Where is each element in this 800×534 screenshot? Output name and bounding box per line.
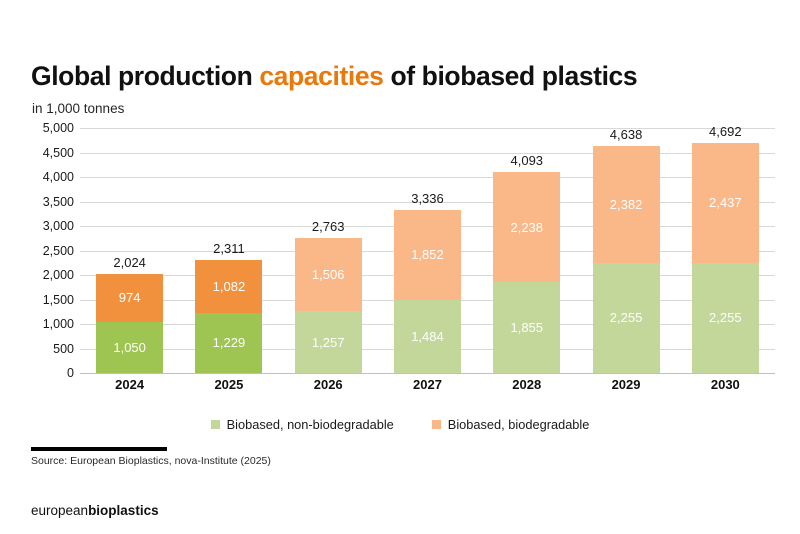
bar-segment-non-biodegradable[interactable]: 2,255 xyxy=(692,263,759,373)
bar-group-2026[interactable]: 2,7631,5061,257 xyxy=(295,128,362,373)
bar-segment-biodegradable[interactable]: 974 xyxy=(96,274,163,322)
y-axis-tick-label: 2,500 xyxy=(22,244,74,258)
bar-group-container: 2,0249741,0502,3111,0821,2292,7631,5061,… xyxy=(80,128,775,373)
title-part-1: Global production xyxy=(31,61,259,91)
y-axis-tick-label: 2,000 xyxy=(22,268,74,282)
bar-segment-non-biodegradable[interactable]: 1,257 xyxy=(295,311,362,373)
brand-logo-light: european xyxy=(31,503,88,518)
bar-segment-biodegradable[interactable]: 2,437 xyxy=(692,143,759,262)
y-axis-tick-label: 5,000 xyxy=(22,121,74,135)
x-axis-tick-2029: 2029 xyxy=(593,377,660,392)
bar-segment-value-label: 1,082 xyxy=(213,280,246,293)
bar-group-2024[interactable]: 2,0249741,050 xyxy=(96,128,163,373)
bar-segment-non-biodegradable[interactable]: 1,229 xyxy=(195,313,262,373)
y-axis-tick-label: 1,000 xyxy=(22,317,74,331)
bar-segment-value-label: 2,382 xyxy=(610,198,643,211)
bar-total-label: 4,638 xyxy=(610,127,643,142)
x-axis-tick-2024: 2024 xyxy=(96,377,163,392)
y-axis: 5,0004,5004,0003,5003,0002,5002,0001,500… xyxy=(22,128,74,373)
y-axis-tick-label: 4,500 xyxy=(22,146,74,160)
bar-segment-value-label: 1,229 xyxy=(213,336,246,349)
bar-total-label: 2,024 xyxy=(113,255,146,270)
chart-page: Global production capacities of biobased… xyxy=(0,0,800,534)
legend-item-non-biodegradable[interactable]: Biobased, non-biodegradable xyxy=(211,417,394,432)
bar-total-label: 4,093 xyxy=(510,153,543,168)
x-axis-tick-2028: 2028 xyxy=(493,377,560,392)
y-axis-tick-label: 500 xyxy=(22,342,74,356)
chart-plot-area: 5,0004,5004,0003,5003,0002,5002,0001,500… xyxy=(0,128,800,403)
y-axis-tick-label: 4,000 xyxy=(22,170,74,184)
bar-segment-value-label: 1,852 xyxy=(411,248,444,261)
chart-subtitle: in 1,000 tonnes xyxy=(32,101,771,116)
bar-group-2025[interactable]: 2,3111,0821,229 xyxy=(195,128,262,373)
page-title: Global production capacities of biobased… xyxy=(31,62,771,92)
bar-segment-value-label: 2,437 xyxy=(709,196,742,209)
legend-swatch-icon xyxy=(211,420,220,429)
legend-swatch-icon xyxy=(432,420,441,429)
bar-segment-value-label: 1,257 xyxy=(312,336,345,349)
x-axis-tick-2030: 2030 xyxy=(692,377,759,392)
bar-total-label: 2,763 xyxy=(312,219,345,234)
x-axis: 2024202520262027202820292030 xyxy=(80,377,775,403)
bar-segment-biodegradable[interactable]: 2,382 xyxy=(593,146,660,263)
bar-segment-value-label: 2,238 xyxy=(510,221,543,234)
bar-segment-biodegradable[interactable]: 1,852 xyxy=(394,210,461,301)
bar-segment-biodegradable[interactable]: 2,238 xyxy=(493,172,560,282)
y-axis-tick-label: 3,500 xyxy=(22,195,74,209)
chart-header: Global production capacities of biobased… xyxy=(31,62,771,116)
chart-legend: Biobased, non-biodegradableBiobased, bio… xyxy=(0,417,800,432)
brand-logo: europeanbioplastics xyxy=(31,503,159,518)
y-axis-tick-label: 0 xyxy=(22,366,74,380)
bar-segment-value-label: 2,255 xyxy=(610,311,643,324)
y-axis-tick-label: 3,000 xyxy=(22,219,74,233)
bar-segment-non-biodegradable[interactable]: 2,255 xyxy=(593,263,660,373)
bar-group-2028[interactable]: 4,0932,2381,855 xyxy=(493,128,560,373)
x-axis-tick-2027: 2027 xyxy=(394,377,461,392)
bar-total-label: 4,692 xyxy=(709,124,742,139)
y-axis-tick-label: 1,500 xyxy=(22,293,74,307)
bar-segment-value-label: 2,255 xyxy=(709,311,742,324)
bar-segment-non-biodegradable[interactable]: 1,484 xyxy=(394,300,461,373)
bar-segment-value-label: 1,506 xyxy=(312,268,345,281)
x-axis-tick-2026: 2026 xyxy=(295,377,362,392)
bar-segment-non-biodegradable[interactable]: 1,855 xyxy=(493,282,560,373)
axis-baseline xyxy=(80,373,775,374)
bar-segment-value-label: 1,484 xyxy=(411,330,444,343)
source-note: Source: European Bioplastics, nova-Insti… xyxy=(31,455,271,467)
legend-item-label: Biobased, non-biodegradable xyxy=(227,417,394,432)
bar-total-label: 2,311 xyxy=(213,241,245,256)
title-part-2: of biobased plastics xyxy=(384,61,638,91)
bar-segment-value-label: 1,050 xyxy=(113,341,146,354)
brand-logo-bold: bioplastics xyxy=(88,503,159,518)
bar-group-2030[interactable]: 4,6922,4372,255 xyxy=(692,128,759,373)
bar-segment-biodegradable[interactable]: 1,082 xyxy=(195,260,262,313)
bar-group-2029[interactable]: 4,6382,3822,255 xyxy=(593,128,660,373)
bar-group-2027[interactable]: 3,3361,8521,484 xyxy=(394,128,461,373)
footer-rule xyxy=(31,447,167,451)
bar-segment-non-biodegradable[interactable]: 1,050 xyxy=(96,322,163,373)
bar-segment-value-label: 1,855 xyxy=(510,321,543,334)
x-axis-tick-2025: 2025 xyxy=(195,377,262,392)
bar-segment-value-label: 974 xyxy=(119,291,141,304)
bar-segment-biodegradable[interactable]: 1,506 xyxy=(295,238,362,312)
title-accent-word: capacities xyxy=(259,61,383,91)
legend-item-biodegradable[interactable]: Biobased, biodegradable xyxy=(432,417,590,432)
bar-total-label: 3,336 xyxy=(411,191,444,206)
legend-item-label: Biobased, biodegradable xyxy=(448,417,590,432)
